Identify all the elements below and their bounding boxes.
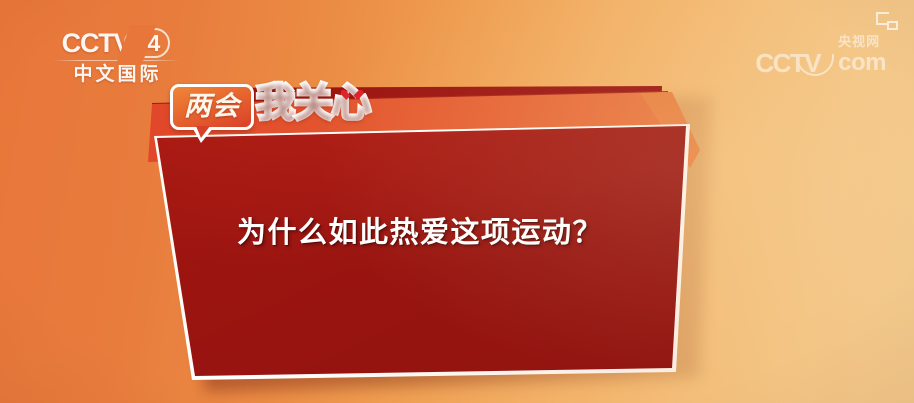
logo-speech-bubble: 两会: [170, 84, 254, 130]
channel-number-label: 4: [148, 32, 161, 55]
caption-text: 为什么如此热爱这项运动？: [195, 214, 645, 252]
program-logo: 两会 我 关 心: [170, 84, 370, 130]
heart-icon: [346, 90, 358, 101]
speech-bubble-box: 两会: [170, 84, 254, 130]
watermark-site-tld-label: com: [838, 51, 886, 75]
logo-char-2: 关: [294, 84, 332, 123]
speech-bubble-tail: [192, 127, 214, 143]
channel-number-badge: 4: [124, 28, 170, 58]
logo-title-characters: 我 关 心: [256, 84, 370, 123]
watermark-arc-icon: [789, 31, 842, 84]
broadcast-frame: 为什么如此热爱这项运动？ 两会 我 关 心 CCTV 4 中文国际 CCTV: [0, 0, 914, 403]
speech-bubble-label: 两会: [184, 92, 240, 121]
watermark-site-cn-label: 央视网: [838, 36, 880, 50]
watermark-network-label: CCTV: [755, 36, 820, 76]
channel-name-label: 中文国际: [46, 64, 186, 86]
channel-bug: CCTV 4 中文国际: [46, 28, 186, 86]
window-overlap-icon: [876, 12, 898, 30]
logo-char-1: 我: [256, 84, 294, 123]
site-watermark: CCTV 央视网 com: [755, 36, 886, 76]
